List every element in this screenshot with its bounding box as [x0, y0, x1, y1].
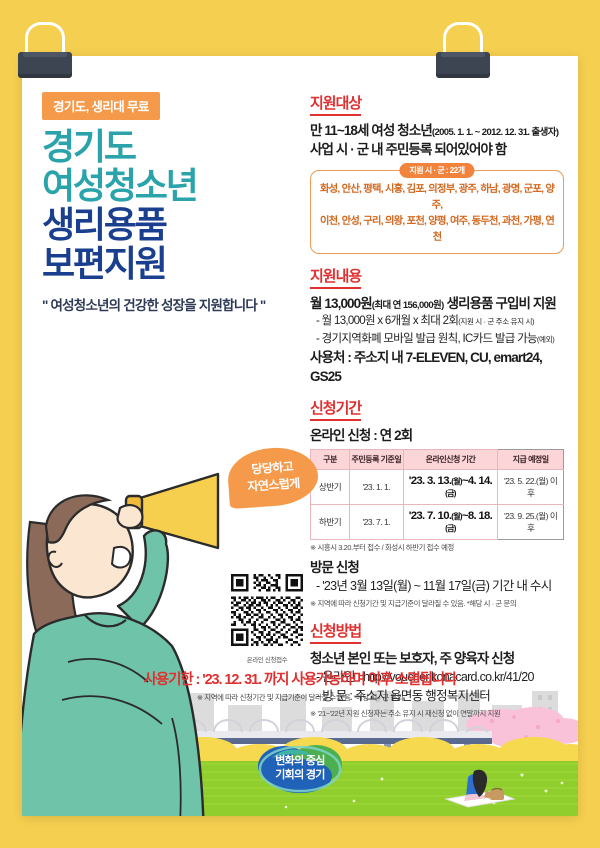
th-online-range: 온라인신청 기간: [403, 450, 498, 470]
section-target-heading: 지원대상: [310, 92, 361, 116]
row0-range-end-day: (금): [445, 489, 456, 498]
support-bullet-1-text: - 월 13,000원 x 6개월 x 최대 2회: [316, 315, 458, 327]
row0-online-range: '23. 3. 13.(월)~4. 14.(금): [403, 470, 498, 505]
support-bullet-1: - 월 13,000원 x 6개월 x 최대 2회(지원 시 · 군 주소 유지…: [310, 313, 564, 330]
bubble-line-2: 자연스럽게: [247, 475, 300, 496]
row1-range-start-day: (월): [451, 512, 462, 521]
support-bullet-2-text: - 경기지역화폐 모바일 발급 원칙, IC카드 발급 가능: [316, 333, 537, 345]
clip-body-icon: [18, 52, 72, 78]
schedule-table: 구분 주민등록 기준일 온라인신청 기간 지급 예정일 상반기 '23. 1. …: [310, 449, 564, 540]
table-header-row: 구분 주민등록 기준일 온라인신청 기간 지급 예정일: [311, 450, 564, 470]
section-target: 지원대상 만 11~18세 여성 청소년(2005. 1. 1. ~ 2012.…: [310, 92, 564, 254]
row1-range-end: ~8. 18.: [462, 510, 492, 522]
row0-range-start-day: (월): [451, 477, 462, 486]
clip-body-icon: [436, 52, 490, 78]
table-footnote: ※ 시흥시 3.20.부터 접수 / 화성시 하반기 접수 예정: [310, 542, 564, 553]
section-period: 신청기간 온라인 신청 : 연 2회 구분 주민등록 기준일 온라인신청 기간 …: [310, 397, 564, 609]
page-title: 경기도 여성청소년 생리용품 보편지원: [42, 129, 312, 282]
title-line-3: 생리용품: [42, 207, 312, 243]
support-bullet-2: - 경기지역화폐 모바일 발급 원칙, IC카드 발급 가능(예외): [310, 331, 564, 348]
usage-deadline-text: 사용기한 : '23. 12. 31. 까지 사용가능하며 이후 소멸됩니다: [22, 668, 578, 689]
support-amount-tail: 생리용품 구입비 지원: [444, 296, 556, 311]
region-line-2: 이천, 안성, 구리, 의왕, 포천, 양평, 여주, 동두천, 과천, 가평,…: [318, 214, 556, 246]
speech-bubble: 당당하고 자연스럽게: [226, 445, 320, 509]
qr-code-icon[interactable]: [231, 574, 303, 646]
row0-base-date: '23. 1. 1.: [350, 470, 404, 505]
table-row: 상반기 '23. 1. 1. '23. 3. 13.(월)~4. 14.(금) …: [311, 470, 564, 505]
target-residency-line: 사업 시 · 군 내 주민등록 되어있어야 함: [310, 140, 564, 159]
tagline-quote: " 여성청소년의 건강한 성장을 지원합니다 ": [42, 294, 312, 314]
support-amount-main: 월 13,000원: [310, 296, 372, 311]
row0-range-end: ~4. 14.: [462, 475, 492, 487]
th-pay-date: 지급 예정일: [498, 450, 564, 470]
region-line-1: 화성, 안산, 평택, 시흥, 김포, 의정부, 광주, 하남, 광명, 군포,…: [318, 182, 556, 214]
method-who-line: 청소년 본인 또는 보호자, 주 양육자 신청: [310, 649, 564, 668]
region-list-box: 지원 시 · 군 : 22개 화성, 안산, 평택, 시흥, 김포, 의정부, …: [310, 170, 564, 254]
gyeonggi-brand-logo: 변화의 중심 기회의 경기: [252, 742, 348, 794]
th-base-date: 주민등록 기준일: [350, 450, 404, 470]
qr-caption: 온라인 신청접수: [227, 654, 307, 664]
brand-line-1: 변화의 중심: [275, 754, 324, 768]
title-line-1: 경기도: [42, 129, 312, 165]
row1-range-start: '23. 7. 10.: [409, 510, 452, 522]
row1-online-range: '23. 7. 10.(월)~8. 18.(금): [403, 505, 498, 540]
visit-apply-line: - '23년 3월 13일(월) ~ 11월 17일(금) 기간 내 수시: [310, 577, 564, 596]
visit-apply-title: 방문 신청: [310, 558, 564, 577]
section-method-heading: 신청방법: [310, 620, 361, 644]
row1-gubun: 하반기: [311, 505, 350, 540]
online-apply-title: 온라인 신청 : 연 2회: [310, 426, 564, 445]
region-count-tag: 지원 시 · 군 : 22개: [399, 163, 474, 178]
support-amount-line: 월 13,000원(최대 연 156,000원) 생리용품 구입비 지원: [310, 294, 564, 313]
target-age-main: 만 11~18세 여성 청소년: [310, 123, 432, 138]
support-bullet-2-note: (예외): [537, 335, 554, 344]
poster-paper: 경기도, 생리대 무료 경기도 여성청소년 생리용품 보편지원 " 여성청소년의…: [22, 56, 578, 816]
row1-range-end-day: (금): [445, 524, 456, 533]
row1-pay-date: '23. 9. 25.(월) 이후: [498, 505, 564, 540]
section-support-heading: 지원내용: [310, 265, 361, 289]
title-line-2: 여성청소년: [42, 168, 312, 204]
brand-line-2: 기회의 경기: [275, 768, 324, 782]
free-pad-badge: 경기도, 생리대 무료: [42, 92, 160, 120]
th-gubun: 구분: [311, 450, 350, 470]
table-row: 하반기 '23. 7. 1. '23. 7. 10.(월)~8. 18.(금) …: [311, 505, 564, 540]
usage-deadline-block: 사용기한 : '23. 12. 31. 까지 사용가능하며 이후 소멸됩니다 ※…: [22, 668, 578, 703]
poster-headline-block: 경기도, 생리대 무료 경기도 여성청소년 생리용품 보편지원 " 여성청소년의…: [42, 92, 312, 314]
method-note: ※ '21~'22년 지원 신청자는 주소 유지 시 재신청 없이 연말까지 지…: [310, 708, 564, 719]
visit-apply-note: ※ 지역에 따라 신청기간 및 지급기준이 달라질 수 있음. *해당 시 · …: [310, 598, 564, 609]
support-amount-annual: (최대 연 156,000원): [372, 300, 444, 311]
usage-deadline-note: ※ 지역에 따라 신청기간 및 지급기준이 달라질 수 있음. *해당 시 · …: [22, 692, 578, 703]
qr-code-block[interactable]: 온라인 신청접수: [227, 574, 307, 664]
row0-pay-date: '23. 5. 22.(월) 이후: [498, 470, 564, 505]
woman-with-megaphone-illustration: [22, 456, 252, 816]
title-line-4: 보편지원: [42, 246, 312, 282]
target-age-birthrange: (2005. 1. 1. ~ 2012. 12. 31. 출생자): [432, 127, 559, 138]
support-bullet-1-note: (지원 시 · 군 주소 유지 시): [458, 317, 534, 326]
section-support: 지원내용 월 13,000원(최대 연 156,000원) 생리용품 구입비 지…: [310, 265, 564, 386]
row1-base-date: '23. 7. 1.: [350, 505, 404, 540]
row0-range-start: '23. 3. 13.: [409, 475, 452, 487]
info-column: 지원대상 만 11~18세 여성 청소년(2005. 1. 1. ~ 2012.…: [310, 92, 564, 730]
support-usage-line: 사용처 : 주소지 내 7-ELEVEN, CU, emart24, GS25: [310, 348, 564, 386]
target-age-line: 만 11~18세 여성 청소년(2005. 1. 1. ~ 2012. 12. …: [310, 121, 564, 140]
section-period-heading: 신청기간: [310, 397, 361, 421]
